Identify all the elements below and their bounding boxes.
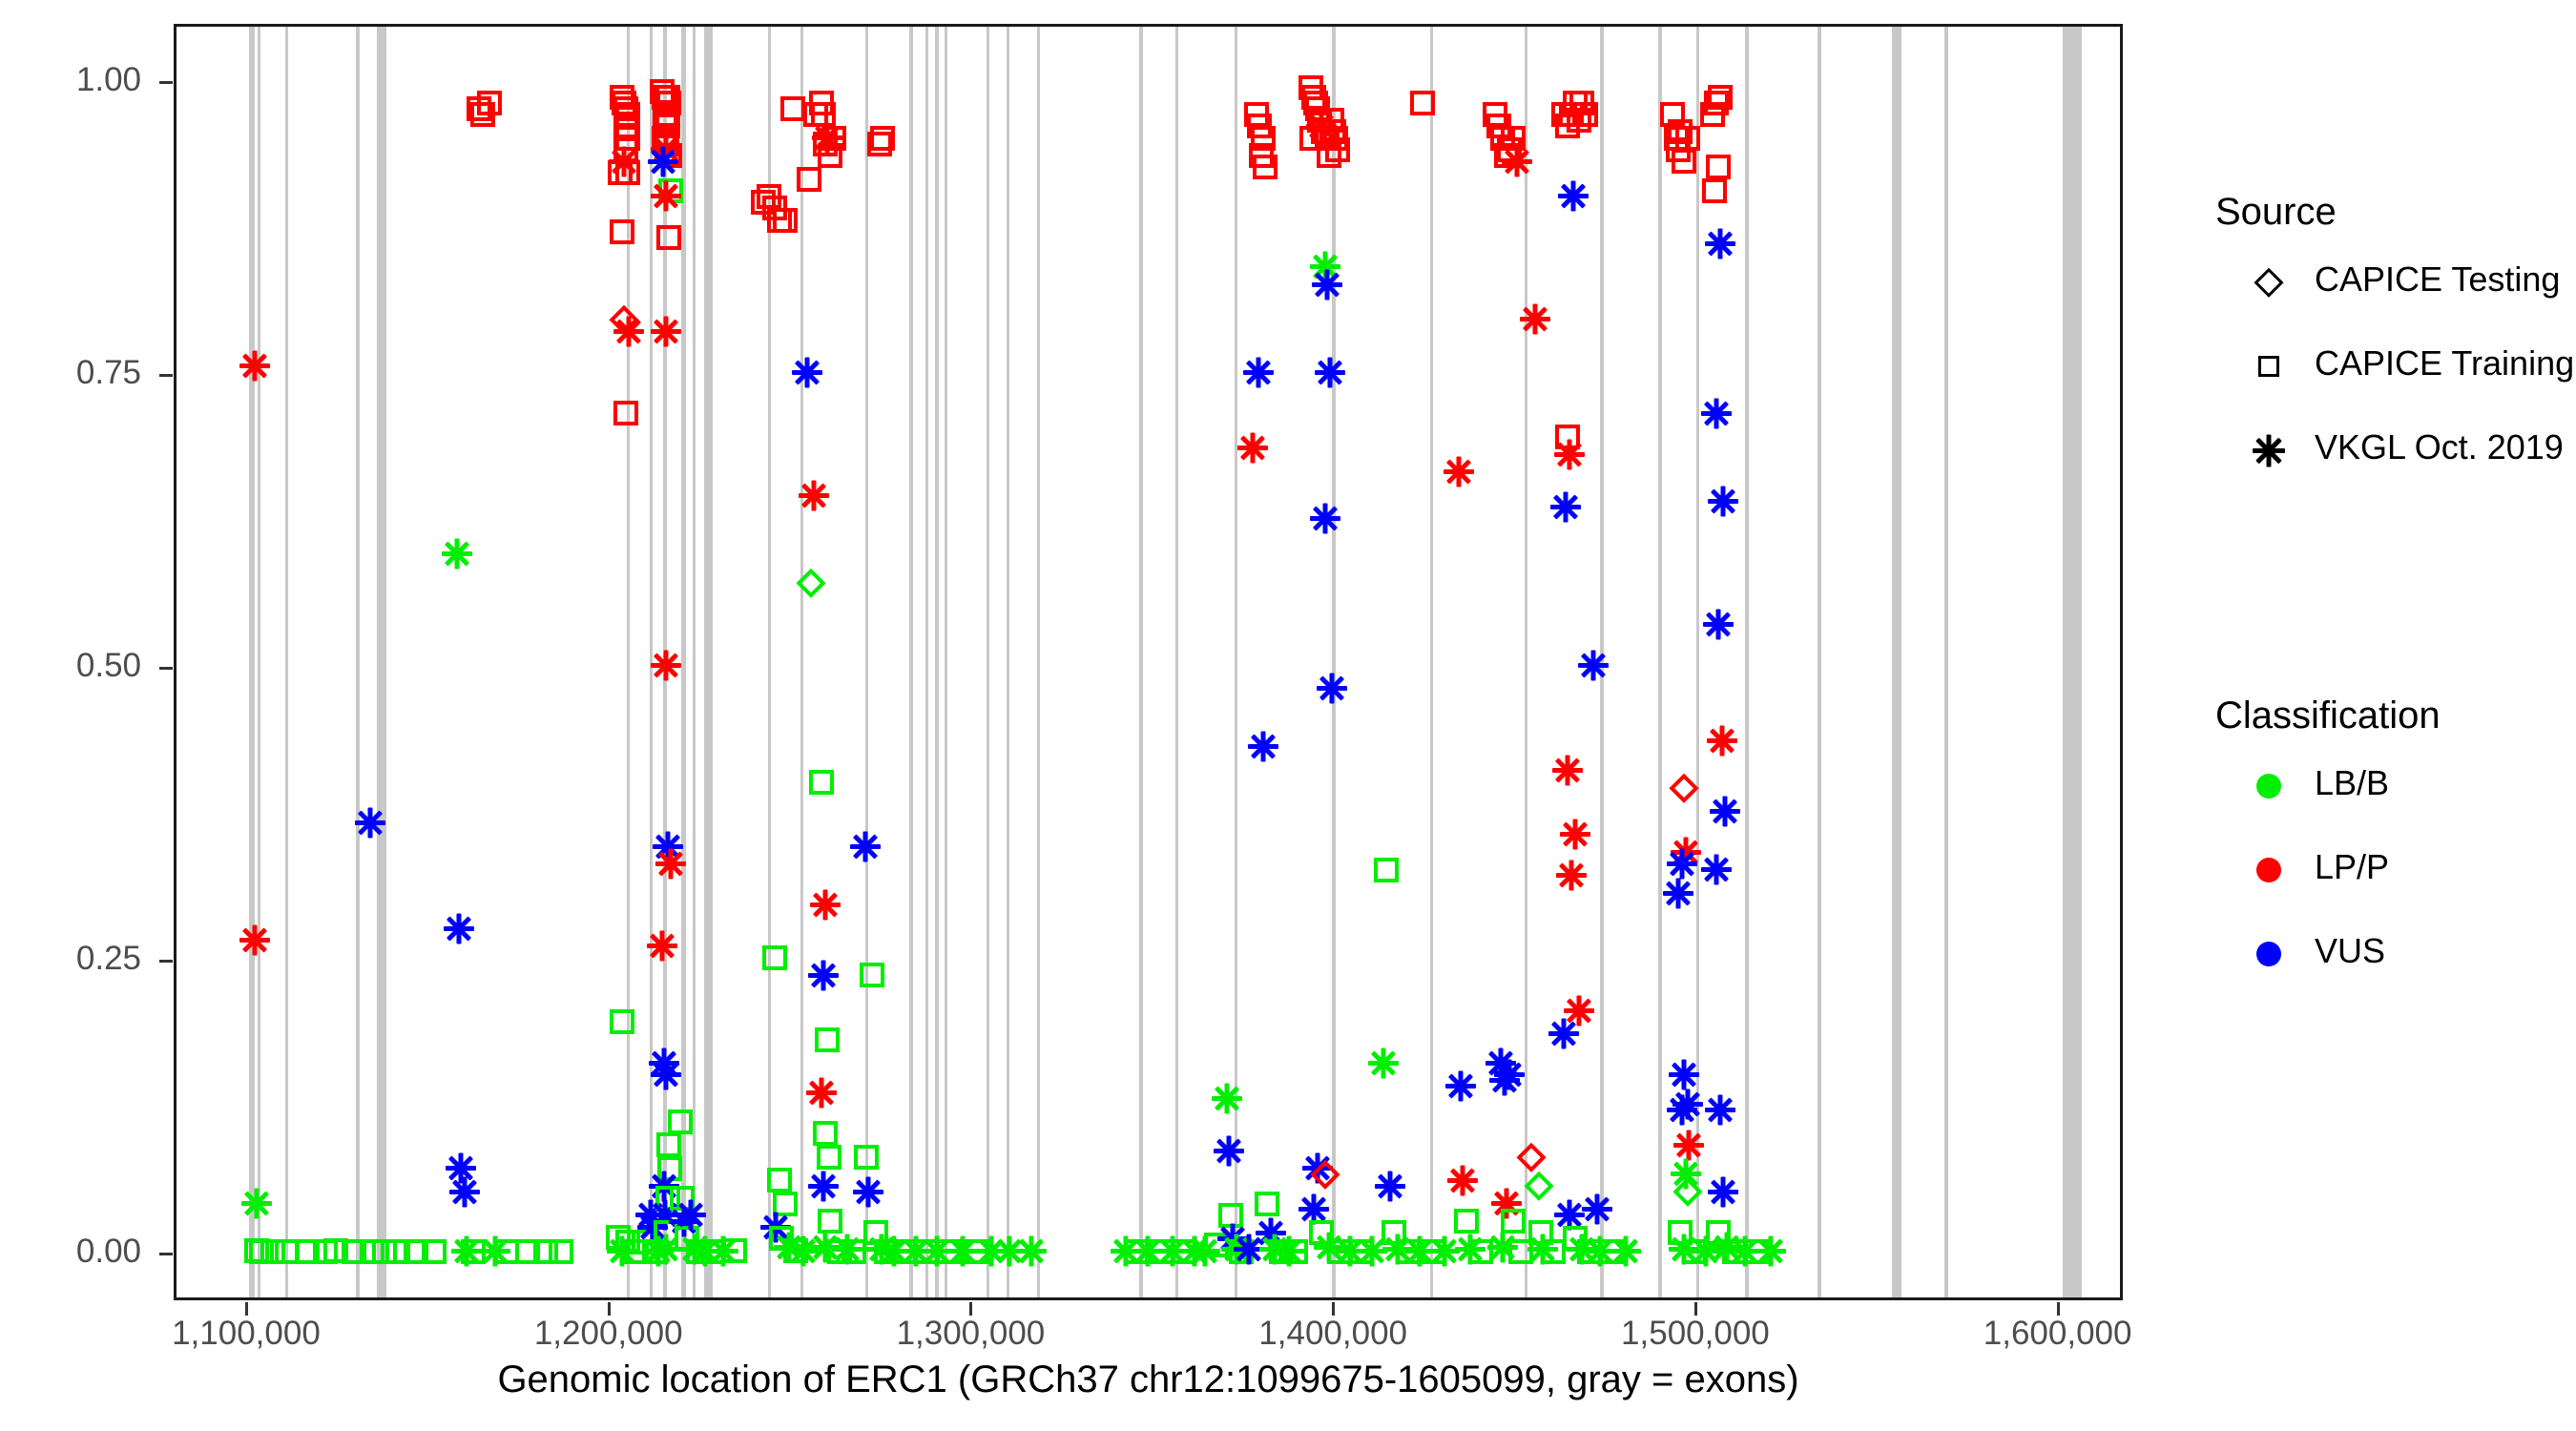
point-marker-asterisk bbox=[649, 1047, 679, 1078]
point-marker-asterisk bbox=[1582, 1194, 1612, 1225]
point-marker-square bbox=[1555, 425, 1580, 449]
point-marker-square bbox=[1253, 155, 1278, 179]
point-marker-asterisk bbox=[1489, 1066, 1520, 1096]
point-marker-asterisk bbox=[651, 316, 681, 346]
point-marker-square bbox=[656, 225, 681, 250]
point-marker-asterisk bbox=[442, 538, 472, 569]
point-marker-diamond bbox=[610, 305, 638, 334]
point-marker-asterisk bbox=[1701, 398, 1732, 428]
point-marker-square bbox=[1422, 1239, 1446, 1264]
color-dot-icon bbox=[2242, 843, 2296, 897]
x-tick-label: 1,100,000 bbox=[172, 1315, 321, 1353]
point-marker-square bbox=[613, 401, 638, 425]
legend-title-source: Source bbox=[2215, 191, 2337, 234]
legend-label-source: CAPICE Training bbox=[2315, 343, 2574, 384]
point-marker-square bbox=[762, 945, 787, 970]
point-marker-asterisk bbox=[810, 890, 841, 921]
point-marker-asterisk bbox=[1701, 855, 1732, 885]
point-marker-asterisk bbox=[651, 650, 681, 680]
point-marker-asterisk bbox=[446, 1153, 476, 1184]
point-marker-square bbox=[813, 1121, 838, 1146]
point-marker-square bbox=[1682, 1239, 1707, 1264]
point-marker-asterisk bbox=[1447, 1165, 1478, 1195]
point-marker-square bbox=[1218, 1203, 1243, 1228]
point-marker-square bbox=[1374, 858, 1399, 882]
point-marker-square bbox=[1325, 137, 1350, 162]
point-marker-square bbox=[797, 167, 821, 192]
point-marker-square bbox=[610, 219, 634, 244]
legend-label-source: VKGL Oct. 2019 bbox=[2315, 427, 2564, 467]
point-marker-square bbox=[1672, 149, 1696, 174]
point-marker-square bbox=[658, 178, 683, 203]
point-marker-asterisk bbox=[792, 357, 822, 387]
point-marker-asterisk bbox=[1667, 849, 1697, 880]
point-marker-square bbox=[767, 1168, 792, 1192]
x-axis-title: Genomic location of ERC1 (GRCh37 chr12:1… bbox=[174, 1358, 2123, 1401]
x-tick-mark bbox=[2057, 1302, 2060, 1316]
point-marker-square bbox=[1744, 1239, 1769, 1264]
point-marker-asterisk bbox=[806, 1077, 837, 1108]
point-marker-square bbox=[1283, 1239, 1308, 1264]
point-marker-asterisk bbox=[655, 849, 686, 880]
point-marker-square bbox=[461, 1239, 486, 1264]
x-tick-label: 1,600,000 bbox=[1984, 1315, 2132, 1353]
point-marker-asterisk bbox=[808, 960, 839, 990]
point-marker-square bbox=[780, 96, 805, 121]
y-tick-label: 0.50 bbox=[0, 649, 141, 682]
point-marker-asterisk bbox=[1315, 357, 1345, 387]
square-icon bbox=[2258, 356, 2279, 377]
point-marker-asterisk bbox=[239, 924, 270, 955]
point-marker-asterisk bbox=[1237, 433, 1268, 464]
point-marker-square bbox=[1501, 1209, 1526, 1234]
point-marker-asterisk bbox=[1705, 1094, 1735, 1125]
point-marker-asterisk bbox=[1663, 878, 1693, 908]
point-marker-square bbox=[818, 1209, 842, 1234]
point-marker-square bbox=[773, 208, 798, 233]
point-marker-asterisk bbox=[1564, 995, 1594, 1026]
point-marker-square bbox=[1172, 1239, 1196, 1264]
point-marker-asterisk bbox=[1445, 1071, 1476, 1102]
point-marker-square bbox=[722, 1238, 747, 1263]
x-tick-mark bbox=[1694, 1302, 1697, 1316]
point-marker-square bbox=[1349, 1239, 1374, 1264]
legend-label-classification: LB/B bbox=[2315, 763, 2389, 803]
point-marker-diamond bbox=[797, 569, 825, 597]
point-marker-asterisk bbox=[1707, 726, 1737, 757]
point-marker-square bbox=[1396, 1239, 1421, 1264]
point-marker-square bbox=[1501, 126, 1526, 151]
point-marker-square bbox=[854, 1145, 879, 1170]
point-marker-asterisk bbox=[355, 808, 385, 839]
point-marker-asterisk bbox=[239, 351, 270, 382]
point-marker-asterisk bbox=[1708, 486, 1738, 516]
point-marker-asterisk bbox=[1310, 504, 1340, 534]
point-marker-asterisk bbox=[1212, 1083, 1242, 1113]
point-marker-asterisk bbox=[1016, 1236, 1047, 1267]
point-marker-asterisk bbox=[808, 1171, 839, 1201]
point-marker-square bbox=[809, 770, 834, 795]
point-marker-asterisk bbox=[1673, 1130, 1704, 1160]
legend-label-classification: VUS bbox=[2315, 931, 2385, 971]
point-marker-asterisk bbox=[1710, 796, 1740, 826]
point-marker-square bbox=[668, 1110, 693, 1134]
point-marker-square bbox=[815, 1027, 840, 1052]
point-marker-asterisk bbox=[1312, 269, 1342, 300]
x-tick-mark bbox=[245, 1302, 248, 1316]
y-tick-mark bbox=[159, 667, 173, 670]
y-tick-label: 0.75 bbox=[0, 356, 141, 389]
point-marker-asterisk bbox=[1672, 1089, 1703, 1119]
point-marker-square bbox=[1410, 91, 1435, 115]
asterisk-icon bbox=[2253, 434, 2285, 467]
point-marker-asterisk bbox=[1243, 357, 1274, 387]
point-marker-asterisk bbox=[1556, 861, 1587, 891]
point-marker-asterisk bbox=[444, 913, 474, 944]
point-marker-asterisk bbox=[1560, 819, 1590, 850]
data-points-layer bbox=[177, 27, 2120, 1297]
point-marker-asterisk bbox=[853, 1176, 883, 1207]
point-marker-square bbox=[656, 1132, 681, 1157]
point-marker-square bbox=[821, 126, 846, 151]
point-marker-asterisk bbox=[1520, 304, 1550, 335]
x-tick-label: 1,200,000 bbox=[534, 1315, 683, 1353]
point-marker-asterisk bbox=[1485, 1047, 1516, 1078]
point-marker-asterisk bbox=[653, 831, 683, 861]
point-marker-square bbox=[1124, 1239, 1149, 1264]
point-marker-square bbox=[1573, 102, 1598, 127]
point-marker-square bbox=[422, 1239, 447, 1264]
point-marker-asterisk bbox=[1671, 837, 1701, 867]
point-marker-asterisk bbox=[1368, 1047, 1399, 1078]
point-marker-square bbox=[817, 1145, 841, 1170]
point-marker-asterisk bbox=[1214, 1135, 1244, 1166]
point-marker-asterisk bbox=[1578, 650, 1609, 680]
y-axis-tick-labels: 0.000.250.500.751.00 bbox=[0, 0, 141, 1431]
point-marker-asterisk bbox=[1667, 1094, 1697, 1125]
x-tick-mark bbox=[969, 1302, 972, 1316]
y-tick-label: 0.00 bbox=[0, 1234, 141, 1268]
point-marker-square bbox=[549, 1239, 573, 1264]
point-marker-asterisk bbox=[1669, 1060, 1699, 1090]
point-marker-square bbox=[811, 102, 836, 127]
point-marker-square bbox=[1708, 85, 1733, 110]
point-marker-square bbox=[860, 963, 884, 987]
point-marker-diamond bbox=[1525, 1172, 1553, 1200]
point-marker-asterisk bbox=[1552, 755, 1583, 785]
point-marker-square bbox=[1706, 155, 1731, 179]
point-marker-asterisk bbox=[1375, 1171, 1405, 1201]
x-tick-mark bbox=[1332, 1302, 1335, 1316]
point-marker-square bbox=[1675, 126, 1700, 151]
chart-figure: CAPICE score (pathogenicity estimate) Ge… bbox=[0, 0, 2576, 1431]
point-marker-asterisk bbox=[1705, 228, 1735, 259]
point-marker-diamond bbox=[1673, 1177, 1702, 1206]
y-tick-label: 0.25 bbox=[0, 942, 141, 975]
point-marker-square bbox=[1454, 1209, 1479, 1234]
y-tick-label: 1.00 bbox=[0, 63, 141, 96]
point-marker-asterisk bbox=[1248, 732, 1278, 762]
point-marker-asterisk bbox=[241, 1189, 272, 1219]
x-tick-label: 1,500,000 bbox=[1621, 1315, 1770, 1353]
y-tick-mark bbox=[159, 960, 173, 963]
point-marker-diamond bbox=[1517, 1143, 1546, 1172]
diamond-icon bbox=[2254, 268, 2283, 297]
point-marker-asterisk bbox=[1708, 1176, 1738, 1207]
point-marker-diamond bbox=[1670, 774, 1698, 802]
point-marker-asterisk bbox=[1494, 1060, 1525, 1090]
point-marker-square bbox=[613, 137, 638, 162]
point-marker-asterisk bbox=[850, 831, 881, 861]
y-tick-mark bbox=[159, 1253, 173, 1255]
point-marker-square bbox=[477, 91, 502, 115]
x-tick-label: 1,300,000 bbox=[897, 1315, 1046, 1353]
point-marker-square bbox=[1204, 1233, 1229, 1257]
point-marker-asterisk bbox=[449, 1176, 480, 1207]
point-marker-asterisk bbox=[1548, 1019, 1579, 1049]
point-marker-square bbox=[1702, 178, 1727, 203]
x-tick-label: 1,400,000 bbox=[1258, 1315, 1407, 1353]
point-marker-asterisk bbox=[1550, 491, 1581, 522]
color-dot-icon bbox=[2242, 927, 2296, 981]
x-tick-mark bbox=[608, 1302, 611, 1316]
point-marker-square bbox=[1599, 1239, 1624, 1264]
point-marker-square bbox=[1255, 1192, 1279, 1216]
point-marker-square bbox=[610, 1009, 634, 1034]
point-marker-square bbox=[773, 1192, 798, 1216]
point-marker-square bbox=[1229, 1239, 1254, 1264]
y-tick-mark bbox=[159, 374, 173, 377]
y-tick-mark bbox=[159, 81, 173, 84]
point-marker-square bbox=[965, 1239, 989, 1264]
legend-label-classification: LP/P bbox=[2315, 847, 2389, 887]
point-marker-square bbox=[936, 1239, 961, 1264]
point-marker-asterisk bbox=[1703, 609, 1734, 639]
point-marker-square bbox=[615, 160, 640, 185]
point-marker-square bbox=[1468, 1239, 1493, 1264]
point-marker-asterisk bbox=[1444, 456, 1474, 487]
point-marker-square bbox=[670, 1186, 695, 1211]
legend: Source Classification CAPICE TestingCAPI… bbox=[2194, 0, 2576, 1431]
point-marker-square bbox=[783, 1238, 808, 1263]
point-marker-square bbox=[657, 143, 682, 168]
point-marker-asterisk bbox=[647, 931, 677, 962]
point-marker-square bbox=[870, 126, 895, 151]
point-marker-diamond bbox=[1311, 1160, 1340, 1189]
point-marker-asterisk bbox=[799, 480, 829, 510]
point-marker-asterisk bbox=[1317, 674, 1347, 704]
plot-panel bbox=[174, 24, 2123, 1300]
point-marker-square bbox=[657, 1156, 682, 1181]
legend-title-classification: Classification bbox=[2215, 695, 2441, 737]
point-marker-asterisk bbox=[1558, 181, 1589, 212]
color-dot-icon bbox=[2242, 759, 2296, 813]
point-marker-asterisk bbox=[651, 1060, 681, 1090]
point-marker-asterisk bbox=[994, 1236, 1025, 1267]
point-marker-asterisk bbox=[1310, 252, 1340, 282]
legend-label-source: CAPICE Testing bbox=[2315, 259, 2560, 300]
